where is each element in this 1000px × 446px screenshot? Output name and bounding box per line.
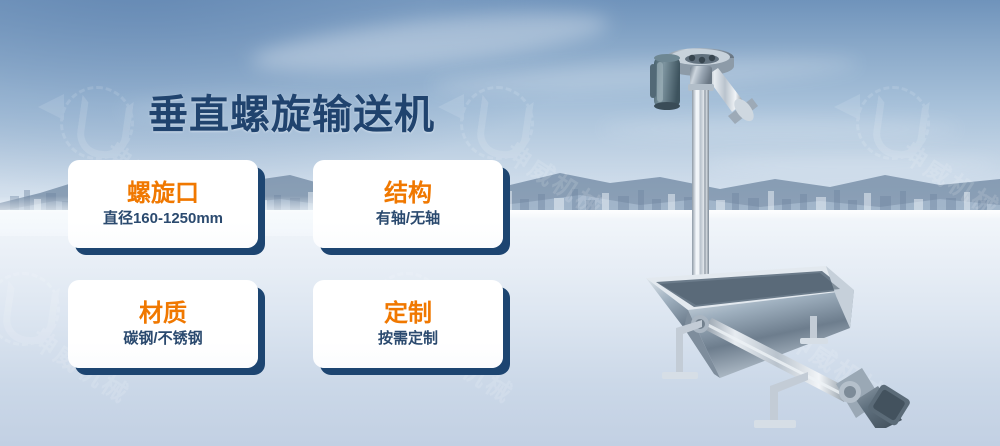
feature-card-structure[interactable]: 结构 有轴/无轴 [313,160,503,248]
feature-card-heading: 螺旋口 [127,181,199,207]
drive-motor [836,368,911,428]
vertical-tube [692,90,709,298]
feature-card-customization[interactable]: 定制 按需定制 [313,280,503,368]
feature-card-heading: 材质 [139,301,187,327]
vertical-screw-conveyor-photo [640,28,940,428]
feature-card-subtext: 按需定制 [378,331,438,348]
feature-card-heading: 结构 [384,181,432,207]
product-banner: 坤威机械 坤威机械 坤威机械 坤威机械 坤威机械 坤威机械 垂直螺旋输送机 螺旋… [0,0,1000,446]
feature-card-material[interactable]: 材质 碳钢/不锈钢 [68,280,258,368]
feature-card-subtext: 碳钢/不锈钢 [123,331,202,348]
feature-card-subtext: 有轴/无轴 [376,211,440,228]
page-title: 垂直螺旋输送机 [148,82,435,140]
feature-card-heading: 定制 [384,301,432,327]
feature-card-screw-opening[interactable]: 螺旋口 直径160-1250mm [68,160,258,248]
feature-card-subtext: 直径160-1250mm [103,211,223,228]
